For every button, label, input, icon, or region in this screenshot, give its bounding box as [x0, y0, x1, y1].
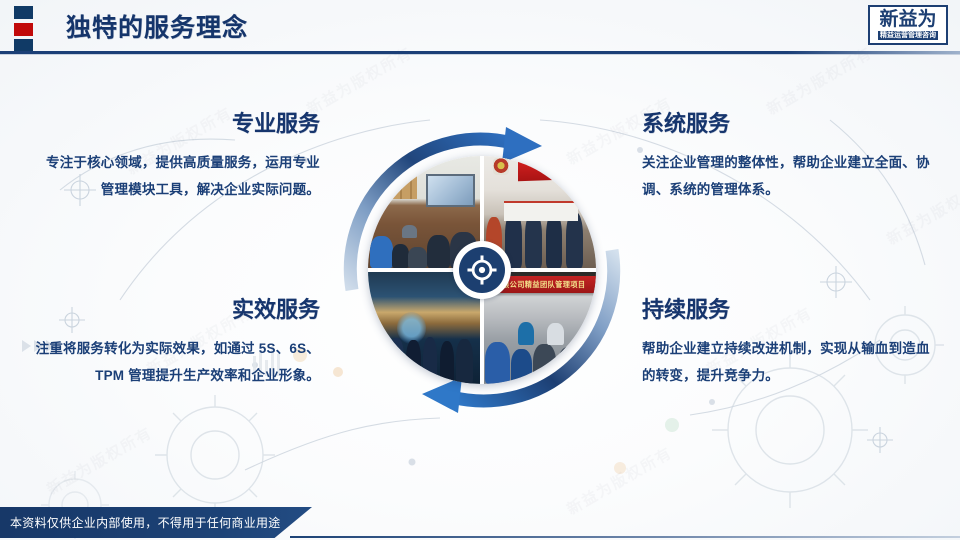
- center-target-circle: [459, 247, 505, 293]
- photo-people-silhouettes: [484, 315, 596, 384]
- quadrant-effective-title: 实效服务: [26, 299, 320, 321]
- footer-divider-line: [290, 536, 960, 538]
- header-divider-2: [0, 54, 960, 55]
- header-square-middle: [14, 23, 33, 36]
- quadrant-systematic-title: 系统服务: [642, 113, 932, 135]
- target-crosshair-icon: [467, 255, 497, 285]
- quadrant-continuous-title: 持续服务: [642, 299, 936, 321]
- quadrant-systematic-body: 关注企业管理的整体性，帮助企业建立全面、协调、系统的管理体系。: [642, 149, 932, 203]
- page-title: 独特的服务理念: [66, 8, 248, 44]
- watermark-text: 新益为版权所有: [43, 422, 157, 500]
- header-accent-squares: [14, 6, 33, 52]
- logo-name: 新益为: [879, 10, 936, 29]
- center-cycle-graphic: 有限公司精益团队管理项目: [336, 124, 628, 416]
- logo-tagline: 精益运营管理咨询: [878, 31, 938, 40]
- quadrant-professional: 专业服务 专注于核心领域，提供高质量服务，运用专业管理模块工具，解决企业实际问题…: [36, 113, 320, 203]
- slide: 新益为版权所有 新益为版权所有 新益为版权所有 新益为版权所有 新益为版权所有 …: [0, 0, 960, 540]
- quadrant-professional-body: 专注于核心领域，提供高质量服务，运用专业管理模块工具，解决企业实际问题。: [36, 149, 320, 203]
- photo-collage-disc: 有限公司精益团队管理项目: [368, 156, 596, 384]
- center-target-badge: [453, 241, 511, 299]
- quadrant-continuous: 持续服务 帮助企业建立持续改进机制，实现从输血到造血的转变，提升竞争力。: [642, 299, 936, 389]
- quadrant-professional-title: 专业服务: [36, 113, 320, 135]
- slide-header: 独特的服务理念: [0, 0, 960, 57]
- header-square-top: [14, 6, 33, 19]
- quadrant-effective-body: 注重将服务转化为实际效果，如通过 5S、6S、TPM 管理提升生产效率和企业形象…: [26, 335, 320, 389]
- watermark-text: 新益为版权所有: [563, 442, 677, 520]
- quadrant-effective: 实效服务 注重将服务转化为实际效果，如通过 5S、6S、TPM 管理提升生产效率…: [26, 299, 320, 389]
- footer-bar: 本资料仅供企业内部使用，不得用于任何商业用途: [0, 507, 312, 538]
- footer-notice: 本资料仅供企业内部使用，不得用于任何商业用途: [10, 514, 281, 531]
- quadrant-systematic: 系统服务 关注企业管理的整体性，帮助企业建立全面、协调、系统的管理体系。: [642, 113, 932, 203]
- photo-people-silhouettes: [368, 330, 480, 384]
- company-logo: 新益为 精益运营管理咨询: [868, 5, 948, 45]
- quadrant-continuous-body: 帮助企业建立持续改进机制，实现从输血到造血的转变，提升竞争力。: [642, 335, 936, 389]
